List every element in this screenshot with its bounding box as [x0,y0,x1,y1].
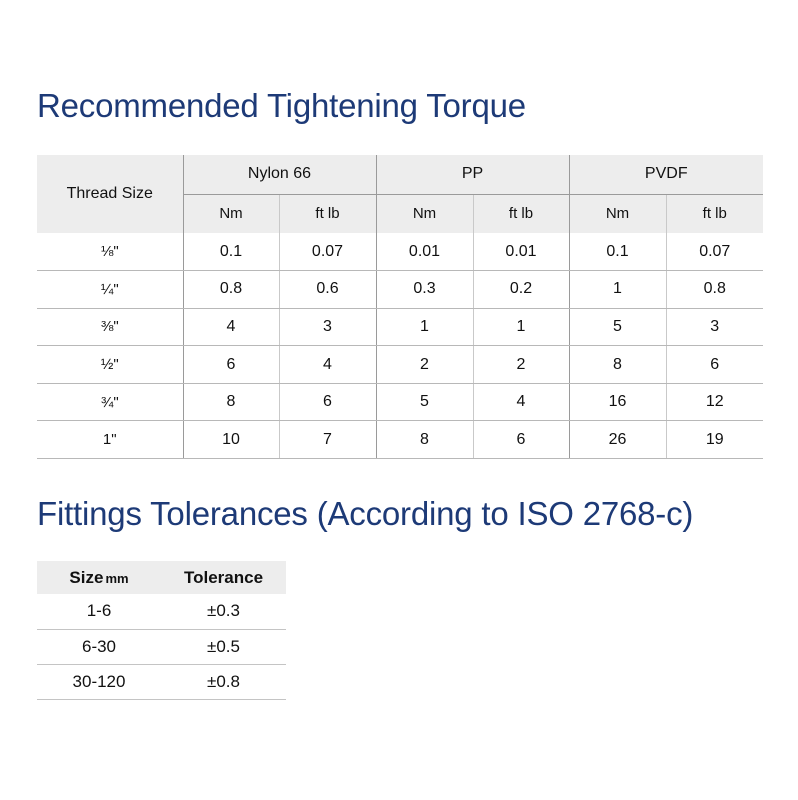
torque-table-head: Thread Size Nylon 66 PP PVDF Nm ft lb Nm… [37,155,763,233]
table-row: ¼" 0.8 0.6 0.3 0.2 1 0.8 [37,271,763,309]
cell-thread-size: ⅛" [37,233,183,271]
page-title-torque: Recommended Tightening Torque [37,88,526,124]
cell-nylon66-nm: 4 [183,308,279,346]
cell-thread-size: 1" [37,421,183,459]
table-row: ⅛" 0.1 0.07 0.01 0.01 0.1 0.07 [37,233,763,271]
cell-thread-size: ¾" [37,383,183,421]
cell-pp-ftlb: 2 [473,346,569,384]
table-row: 1-6 ±0.3 [37,594,286,629]
cell-tolerance-value: ±0.3 [161,594,286,629]
cell-nylon66-ftlb: 6 [279,383,376,421]
cell-nylon66-ftlb: 3 [279,308,376,346]
cell-pvdf-ftlb: 0.07 [666,233,763,271]
cell-pp-nm: 5 [376,383,473,421]
column-header-pp-nm: Nm [376,194,473,233]
cell-pp-nm: 8 [376,421,473,459]
cell-tolerance-value: ±0.5 [161,629,286,664]
cell-pp-nm: 0.3 [376,271,473,309]
cell-size-range: 30-120 [37,664,161,699]
column-header-pvdf-ftlb: ft lb [666,194,763,233]
cell-pvdf-nm: 16 [569,383,666,421]
torque-group-header-row: Thread Size Nylon 66 PP PVDF [37,155,763,194]
fittings-tolerances-table: Sizemm Tolerance 1-6 ±0.3 6-30 ±0.5 30-1… [37,561,286,700]
cell-pvdf-ftlb: 3 [666,308,763,346]
cell-nylon66-nm: 10 [183,421,279,459]
cell-nylon66-ftlb: 7 [279,421,376,459]
column-group-header-pvdf: PVDF [569,155,763,194]
cell-thread-size: ½" [37,346,183,384]
column-group-header-nylon66: Nylon 66 [183,155,376,194]
cell-size-range: 6-30 [37,629,161,664]
column-header-pp-ftlb: ft lb [473,194,569,233]
column-header-size-label: Size [69,568,103,587]
column-header-nylon66-nm: Nm [183,194,279,233]
torque-table-body: ⅛" 0.1 0.07 0.01 0.01 0.1 0.07 ¼" 0.8 0.… [37,233,763,459]
column-header-size: Sizemm [37,561,161,594]
cell-nylon66-ftlb: 4 [279,346,376,384]
cell-nylon66-nm: 8 [183,383,279,421]
column-header-pvdf-nm: Nm [569,194,666,233]
table-row: 6-30 ±0.5 [37,629,286,664]
cell-thread-size: ⅜" [37,308,183,346]
cell-pp-nm: 2 [376,346,473,384]
column-header-size-unit: mm [105,571,128,586]
cell-pp-ftlb: 4 [473,383,569,421]
page-root: Recommended Tightening Torque Thread Siz… [0,0,798,800]
cell-pvdf-nm: 8 [569,346,666,384]
cell-pp-nm: 1 [376,308,473,346]
cell-nylon66-nm: 6 [183,346,279,384]
table-row: 30-120 ±0.8 [37,664,286,699]
cell-size-range: 1-6 [37,594,161,629]
cell-nylon66-ftlb: 0.07 [279,233,376,271]
cell-pvdf-ftlb: 12 [666,383,763,421]
cell-pp-ftlb: 0.01 [473,233,569,271]
cell-pvdf-ftlb: 19 [666,421,763,459]
cell-pvdf-nm: 5 [569,308,666,346]
cell-pp-ftlb: 0.2 [473,271,569,309]
column-group-header-pp: PP [376,155,569,194]
tolerance-table-body: 1-6 ±0.3 6-30 ±0.5 30-120 ±0.8 [37,594,286,699]
tolerance-header-row: Sizemm Tolerance [37,561,286,594]
table-row: ¾" 8 6 5 4 16 12 [37,383,763,421]
cell-thread-size: ¼" [37,271,183,309]
page-title-tolerances: Fittings Tolerances (According to ISO 27… [37,496,693,532]
table-row: ½" 6 4 2 2 8 6 [37,346,763,384]
column-header-thread-size: Thread Size [37,155,183,233]
column-header-tolerance: Tolerance [161,561,286,594]
recommended-tightening-torque-table: Thread Size Nylon 66 PP PVDF Nm ft lb Nm… [37,155,763,459]
cell-tolerance-value: ±0.8 [161,664,286,699]
cell-pp-nm: 0.01 [376,233,473,271]
cell-nylon66-nm: 0.1 [183,233,279,271]
cell-nylon66-ftlb: 0.6 [279,271,376,309]
cell-pp-ftlb: 6 [473,421,569,459]
cell-pvdf-nm: 0.1 [569,233,666,271]
cell-pvdf-nm: 26 [569,421,666,459]
cell-nylon66-nm: 0.8 [183,271,279,309]
tolerance-table-head: Sizemm Tolerance [37,561,286,594]
column-header-nylon66-ftlb: ft lb [279,194,376,233]
cell-pp-ftlb: 1 [473,308,569,346]
tolerance-table-container: Sizemm Tolerance 1-6 ±0.3 6-30 ±0.5 30-1… [37,561,286,700]
table-row: ⅜" 4 3 1 1 5 3 [37,308,763,346]
cell-pvdf-ftlb: 6 [666,346,763,384]
cell-pvdf-ftlb: 0.8 [666,271,763,309]
torque-table-container: Thread Size Nylon 66 PP PVDF Nm ft lb Nm… [37,155,763,459]
table-row: 1" 10 7 8 6 26 19 [37,421,763,459]
cell-pvdf-nm: 1 [569,271,666,309]
